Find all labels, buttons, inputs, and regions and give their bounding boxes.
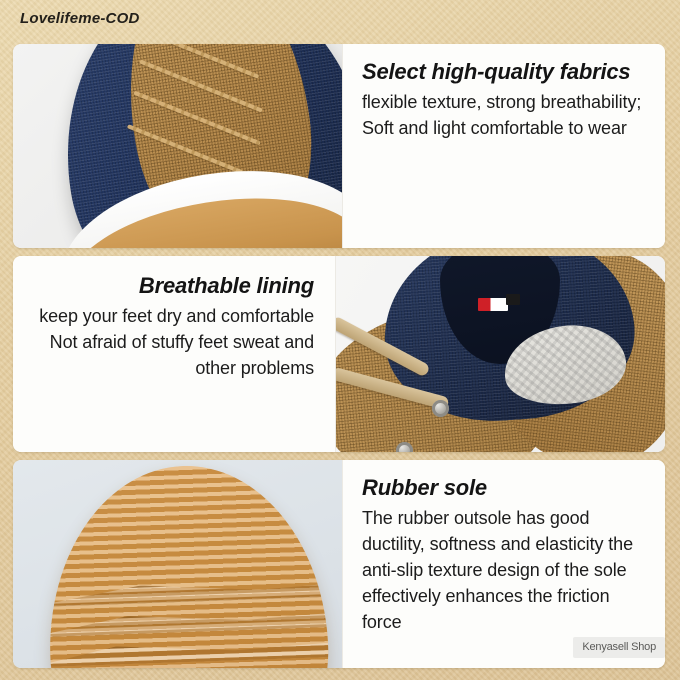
brand-tag-black: [506, 294, 520, 305]
feature-heading: Select high-quality fabrics: [362, 58, 649, 86]
product-photo-shoe-collar: [336, 256, 665, 452]
feature-heading: Breathable lining: [27, 272, 314, 300]
brand-tag-red: [478, 298, 508, 311]
feature-text-lining: Breathable lining keep your feet dry and…: [13, 256, 336, 452]
feature-card-fabrics: Select high-quality fabrics flexible tex…: [13, 44, 665, 248]
feature-body: The rubber outsole has good ductility, s…: [362, 505, 649, 635]
feature-body: keep your feet dry and comfortable Not a…: [27, 303, 314, 381]
gum-rubber-sole: [44, 461, 332, 668]
sole-rib-texture: [44, 461, 332, 668]
feature-card-lining: Breathable lining keep your feet dry and…: [13, 256, 665, 452]
feature-text-fabrics: Select high-quality fabrics flexible tex…: [342, 44, 665, 248]
watermark: Kenyasell Shop: [573, 637, 665, 658]
feature-card-sole: Rubber sole The rubber outsole has good …: [13, 460, 665, 668]
brand-title: Lovelifeme-COD: [20, 10, 140, 27]
product-photo-shoe-toe: [13, 44, 342, 248]
lace-eyelet: [396, 442, 413, 452]
feature-body: flexible texture, strong breathability; …: [362, 89, 649, 141]
product-photo-outsole: [13, 460, 342, 668]
feature-heading: Rubber sole: [362, 474, 649, 502]
lace-eyelet: [432, 400, 449, 417]
